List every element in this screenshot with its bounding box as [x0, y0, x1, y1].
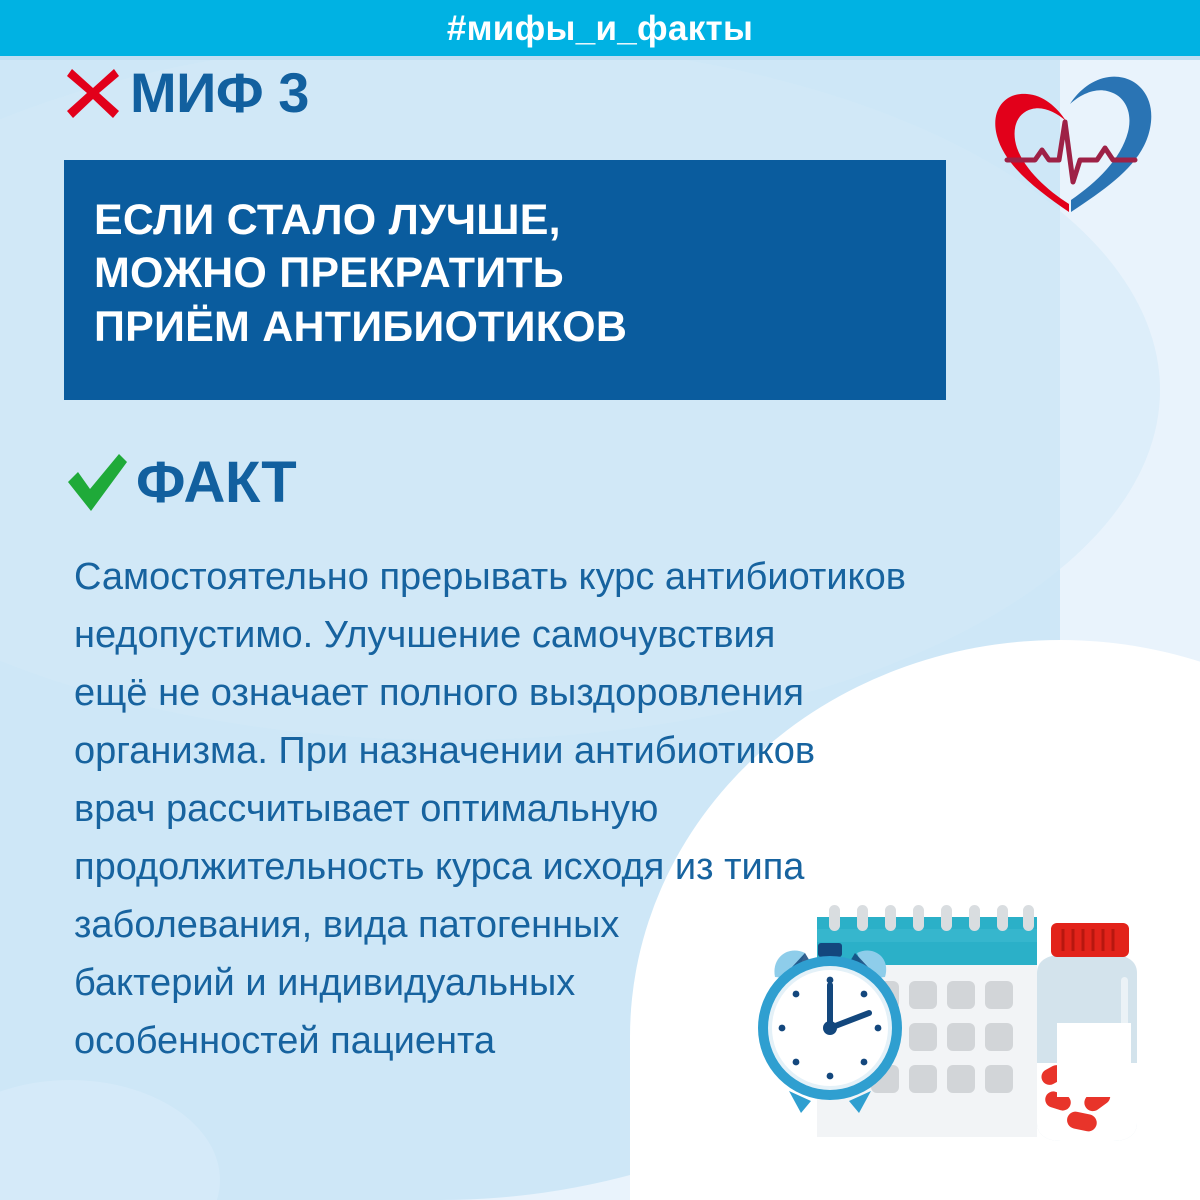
- bottle-label: [1057, 1023, 1131, 1097]
- fact-body-line: продолжительность курса исходя из типа: [74, 838, 1134, 896]
- cross-icon: [64, 64, 122, 122]
- clock-center-pin: [823, 1021, 837, 1035]
- pill-bottle-icon: [1037, 923, 1137, 1143]
- clock-calendar-pills-illustration: [745, 895, 1165, 1190]
- myth-label: МИФ 3: [130, 65, 309, 121]
- myth-heading: МИФ 3: [64, 64, 309, 122]
- header-bar: #мифы_и_факты: [0, 0, 1200, 56]
- heart-ecg-logo: [985, 64, 1155, 214]
- hashtag-label: #мифы_и_факты: [447, 11, 753, 46]
- heart-blue-half: [1070, 77, 1151, 212]
- checkmark-icon: [64, 452, 130, 514]
- header-underline: [0, 56, 1200, 60]
- fact-body-line: организма. При назначении антибиотиков: [74, 722, 1134, 780]
- fact-body-line: Самостоятельно прерывать курс антибиотик…: [74, 548, 1134, 606]
- myth-statement-line: ПРИЁМ АНТИБИОТИКОВ: [94, 301, 946, 354]
- fact-label: ФАКТ: [136, 454, 296, 512]
- infographic-poster: #мифы_и_факты МИФ 3 ЕСЛИ СТАЛО ЛУЧШЕ, МО…: [0, 0, 1200, 1200]
- clock-knob: [818, 943, 842, 957]
- myth-statement-box: ЕСЛИ СТАЛО ЛУЧШЕ, МОЖНО ПРЕКРАТИТЬ ПРИЁМ…: [64, 160, 946, 400]
- fact-body-line: врач рассчитывает оптимальную: [74, 780, 1134, 838]
- fact-body-line: недопустимо. Улучшение самочувствия: [74, 606, 1134, 664]
- myth-statement-line: МОЖНО ПРЕКРАТИТЬ: [94, 247, 946, 300]
- fact-body-line: ещё не означает полного выздоровления: [74, 664, 1134, 722]
- myth-statement-line: ЕСЛИ СТАЛО ЛУЧШЕ,: [94, 194, 946, 247]
- fact-heading: ФАКТ: [64, 452, 296, 514]
